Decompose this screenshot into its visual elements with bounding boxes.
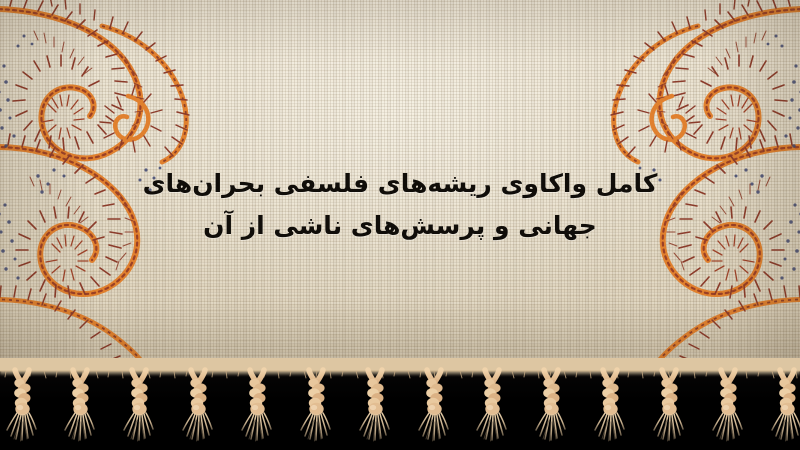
paisley-ornament-right-icon <box>546 0 800 374</box>
paisley-ornament-left-icon <box>0 0 254 374</box>
knotted-tassel-fringe <box>0 358 800 450</box>
textile-banner-image: کامل واکاوی ریشه‌های فلسفی بحران‌های جها… <box>0 0 800 450</box>
